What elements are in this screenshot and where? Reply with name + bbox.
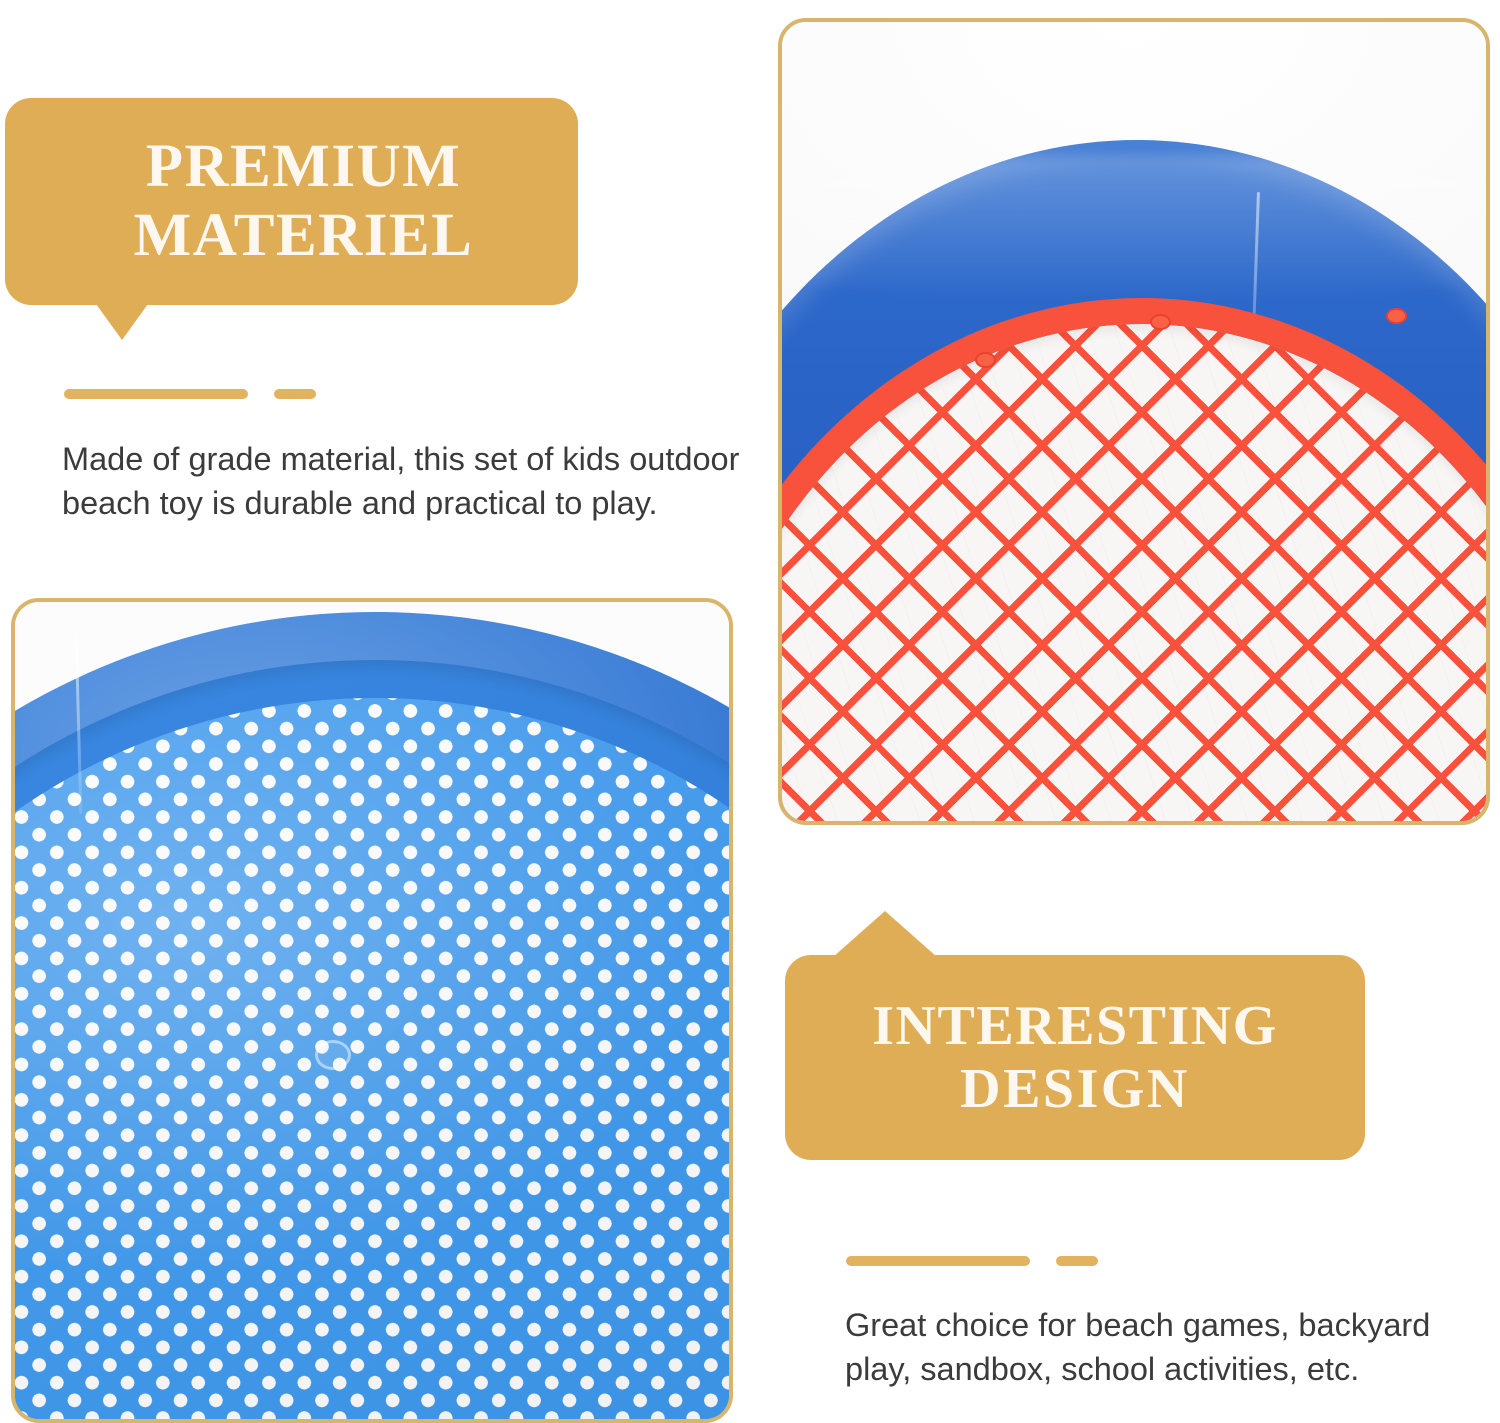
molded-nub [1150, 314, 1171, 330]
photo-inner-red [782, 22, 1486, 821]
banner-heading-line-2: MATERIEL [134, 202, 474, 270]
feature-body-premium-materiel: Made of grade material, this set of kids… [62, 437, 742, 525]
molded-nub [975, 352, 996, 368]
banner-heading-line-1: PREMIUM [146, 133, 461, 201]
molded-nub [1386, 308, 1407, 324]
photo-inner-blue [15, 602, 729, 1419]
feature-banner-premium-materiel: PREMIUM MATERIEL [5, 98, 578, 305]
banner-tail-pointer-down [96, 304, 148, 340]
banner-heading-line-1: INTERESTING [872, 995, 1278, 1058]
banner-heading-line-2: DESIGN [960, 1058, 1190, 1121]
sieve-blue-mesh-screen [15, 698, 729, 1419]
molded-nub [315, 1040, 351, 1070]
product-photo-blue-mesh-sieve [11, 598, 733, 1423]
dash-short [1056, 1256, 1098, 1266]
decorative-dashes-premium [64, 389, 316, 399]
product-photo-red-mesh-sieve [778, 18, 1490, 825]
dash-long [64, 389, 248, 399]
sieve-rim-sheen [782, 154, 1486, 304]
dash-short [274, 389, 316, 399]
mesh-sheen [15, 698, 729, 1419]
decorative-dashes-design [846, 1256, 1098, 1266]
banner-tail-pointer-up [833, 911, 937, 957]
dash-long [846, 1256, 1030, 1266]
feature-body-interesting-design: Great choice for beach games, backyard p… [845, 1303, 1500, 1391]
feature-banner-interesting-design: INTERESTING DESIGN [785, 955, 1365, 1160]
